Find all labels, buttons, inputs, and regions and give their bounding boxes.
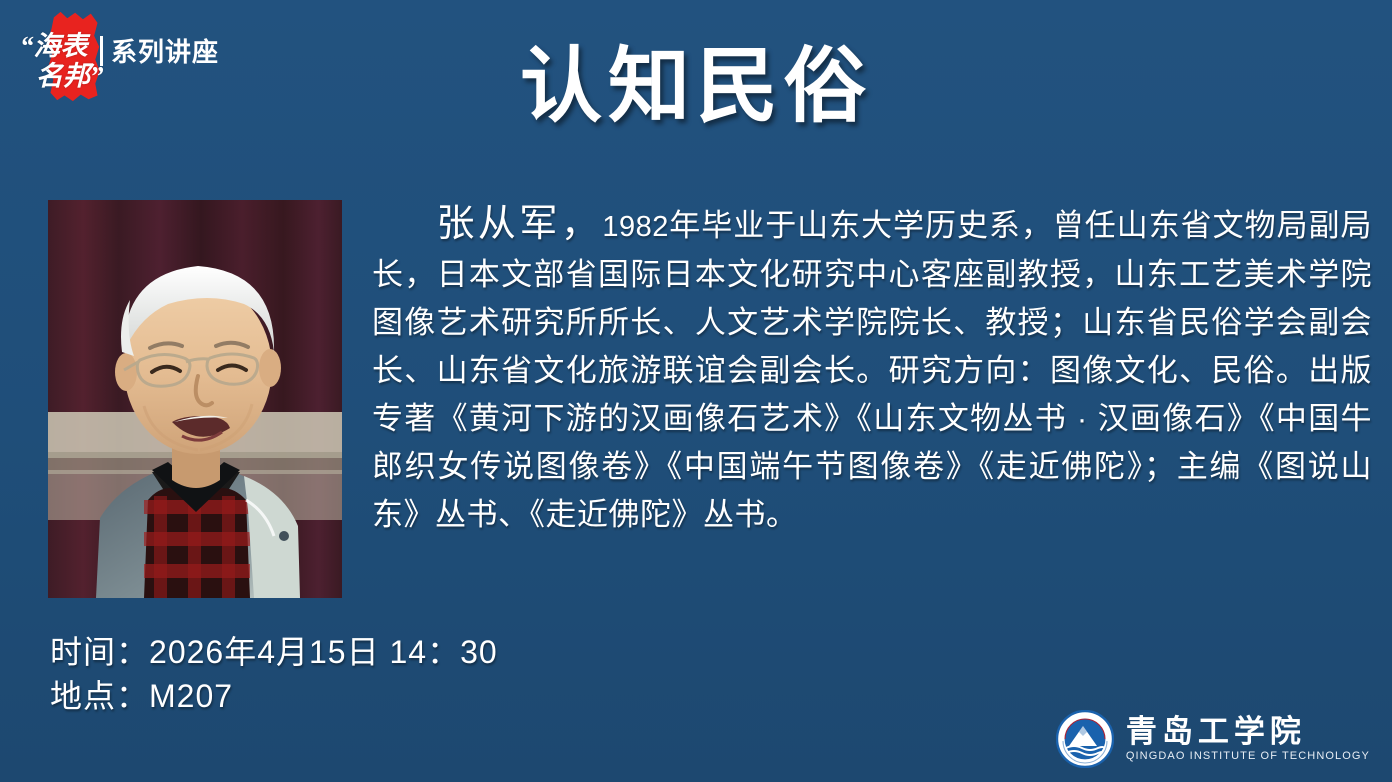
speaker-bio: 张从军，1982年毕业于山东大学历史系，曾任山东省文物局副局长，日本文部省国际日… <box>372 200 1372 539</box>
event-place-value: M207 <box>149 678 233 714</box>
university-name-block: 青岛工学院 QINGDAO INSTITUTE OF TECHNOLOGY <box>1126 716 1370 762</box>
event-details: 时间：2026年4月15日 14：30 地点：M207 <box>50 630 498 718</box>
page-title: 认知民俗 <box>0 46 1392 128</box>
poster-header: “海表 名邦” 系列讲座 认知民俗 <box>0 0 1392 110</box>
lecture-poster: “海表 名邦” 系列讲座 认知民俗 <box>0 0 1392 782</box>
speaker-portrait <box>48 200 342 598</box>
event-time-label: 时间： <box>50 634 149 670</box>
university-emblem-icon <box>1056 710 1114 768</box>
emblem-svg <box>1056 710 1114 768</box>
university-logo: 青岛工学院 QINGDAO INSTITUTE OF TECHNOLOGY <box>1056 710 1370 768</box>
event-time-value: 2026年4月15日 14：30 <box>149 634 498 670</box>
event-time-row: 时间：2026年4月15日 14：30 <box>50 630 498 674</box>
university-name-en: QINGDAO INSTITUTE OF TECHNOLOGY <box>1126 750 1370 762</box>
event-place-row: 地点：M207 <box>50 674 498 718</box>
event-place-label: 地点： <box>50 678 149 714</box>
bio-graduation-year: 1982 <box>602 211 669 243</box>
bio-name-separator: ， <box>561 203 602 245</box>
university-name-cn: 青岛工学院 <box>1126 716 1370 749</box>
portrait-illustration <box>48 200 342 598</box>
speaker-name: 张从军 <box>436 203 561 245</box>
bio-text: 年毕业于山东大学历史系，曾任山东省文物局副局长，日本文部省国际日本文化研究中心客… <box>372 208 1372 532</box>
